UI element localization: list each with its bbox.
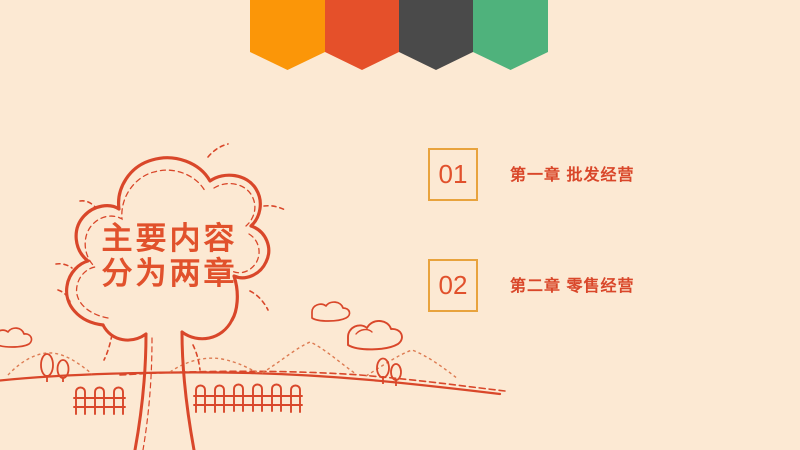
page-title-line-1: 主要内容 [102, 221, 238, 256]
crown-notch-right [182, 320, 232, 339]
chapter-list: 01 第一章 批发经营 02 第二章 零售经营 [428, 148, 768, 370]
chapter-item-01[interactable]: 01 第一章 批发经营 [428, 148, 768, 206]
chapter-number-02: 02 [439, 270, 468, 301]
tree-trunk [135, 332, 194, 450]
cloud-medium [348, 321, 402, 349]
chapter-label-01: 第一章 批发经营 [510, 161, 634, 185]
page-title: 主要内容 分为两章 [62, 222, 277, 291]
cloud-small-left [0, 328, 31, 347]
small-tree-b [58, 360, 69, 382]
fence-right [194, 385, 302, 413]
slide-canvas: 主要内容 分为两章 01 第一章 批发经营 02 第二章 零售经营 [0, 0, 800, 450]
chapter-label-02: 第二章 零售经营 [510, 272, 634, 296]
fence-left [74, 388, 125, 415]
cloud-small-upper [312, 302, 350, 321]
chapter-number-01: 01 [439, 159, 468, 190]
hill-right-dotted [262, 342, 356, 374]
chapter-item-02[interactable]: 02 第二章 零售经营 [428, 259, 768, 317]
chapter-number-box-01: 01 [428, 148, 478, 201]
chapter-number-box-02: 02 [428, 259, 478, 312]
page-title-line-2: 分为两章 [62, 257, 277, 292]
crown-notch-left [103, 325, 146, 340]
ground-line [0, 372, 500, 394]
tree-crown-inner-dash-2 [214, 184, 255, 226]
